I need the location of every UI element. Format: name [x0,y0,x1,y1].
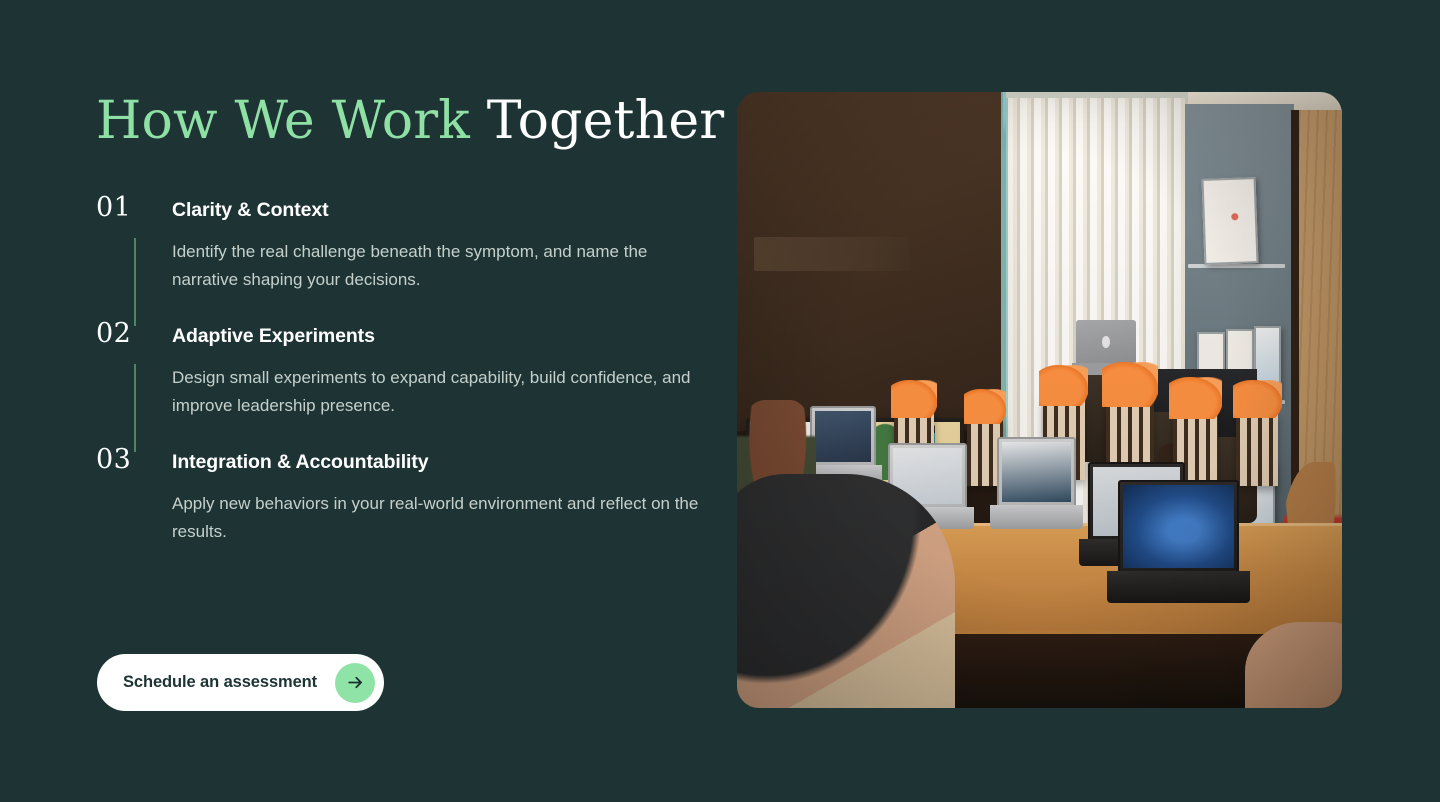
step-number: 03 [96,446,172,473]
step-header: 03 Integration & Accountability [96,446,706,473]
list-item: 02 Adaptive Experiments Design small exp… [96,320,706,420]
meeting-room-photo [737,92,1342,708]
step-rule-line [134,364,136,452]
step-description: Identify the real challenge beneath the … [172,238,702,294]
step-title: Clarity & Context [172,201,329,221]
list-item: 01 Clarity & Context Identify the real c… [96,194,706,294]
step-rule-line [134,238,136,326]
page-title: How We Work Together [96,92,706,150]
step-title: Integration & Accountability [172,453,429,473]
left-content-column: How We Work Together 01 Clarity & Contex… [96,92,706,546]
step-description: Apply new behaviors in your real-world e… [172,490,702,546]
page-title-rest: Together [470,91,724,151]
step-description: Design small experiments to expand capab… [172,364,702,420]
step-body-wrapper: Identify the real challenge beneath the … [96,238,706,294]
step-number: 02 [96,320,172,347]
steps-list: 01 Clarity & Context Identify the real c… [96,194,706,546]
step-header: 02 Adaptive Experiments [96,320,706,347]
photo-illustration [737,92,1342,708]
step-title: Adaptive Experiments [172,327,375,347]
step-body-wrapper: Apply new behaviors in your real-world e… [96,490,706,546]
schedule-assessment-button[interactable]: Schedule an assessment [97,654,384,711]
how-we-work-section: How We Work Together 01 Clarity & Contex… [0,0,1440,802]
schedule-assessment-label: Schedule an assessment [123,673,317,692]
arrow-right-icon [335,663,375,703]
photo-vignette [737,92,1342,708]
page-title-accent: How We Work [96,91,470,151]
step-body-wrapper: Design small experiments to expand capab… [96,364,706,420]
step-header: 01 Clarity & Context [96,194,706,221]
list-item: 03 Integration & Accountability Apply ne… [96,446,706,546]
step-number: 01 [96,194,172,221]
